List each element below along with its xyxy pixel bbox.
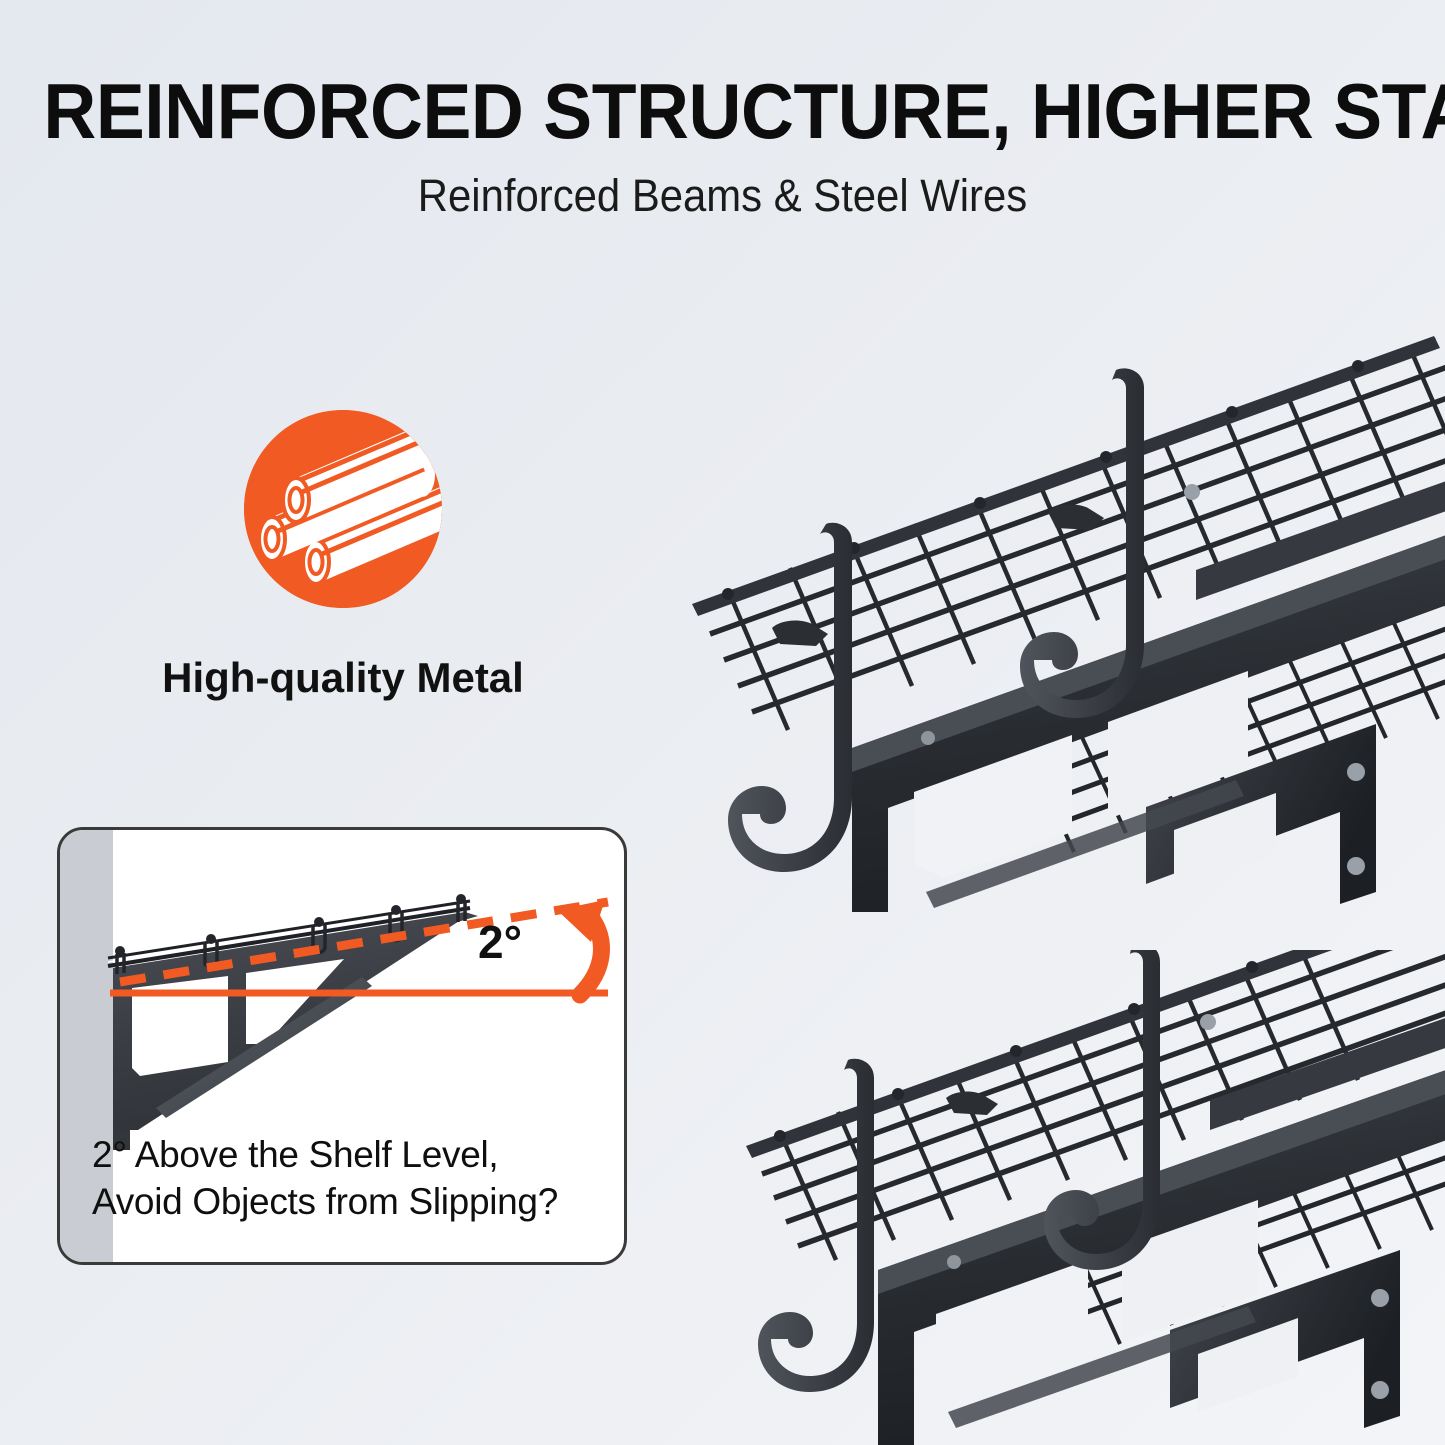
marketing-image-canvas: REINFORCED STRUCTURE, HIGHER STABILITY R… [0, 0, 1445, 1445]
angle-diagram-panel: 2° 2° Above the Shelf Level, Avoid Objec… [57, 827, 627, 1265]
angle-diagram-caption: 2° Above the Shelf Level, Avoid Objects … [92, 1132, 608, 1225]
product-photo-shelf-lower [740, 950, 1445, 1445]
metal-pipes-icon [244, 410, 442, 608]
caption-line-2: Avoid Objects from Slipping? [92, 1179, 608, 1226]
angle-label: 2° [478, 916, 522, 968]
feature-badge-label: High-quality Metal [148, 654, 538, 702]
page-subtitle: Reinforced Beams & Steel Wires [51, 170, 1395, 222]
page-title: REINFORCED STRUCTURE, HIGHER STABILITY [43, 72, 1401, 150]
product-photo-shelf-upper [676, 252, 1445, 912]
angle-arrow [557, 900, 605, 995]
front-edge-rail [692, 336, 1440, 616]
bracket-angle-figure: 2° [60, 830, 627, 1150]
deck-hook-slots-lower [946, 1091, 998, 1115]
caption-line-1: 2° Above the Shelf Level, [92, 1132, 608, 1179]
feature-badge: High-quality Metal [148, 410, 538, 702]
